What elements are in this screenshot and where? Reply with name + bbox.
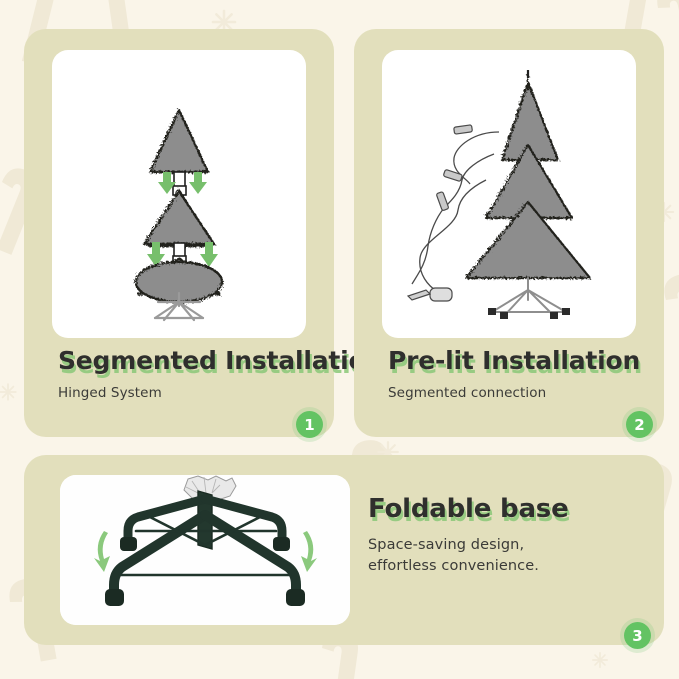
cord-connector [436, 125, 472, 211]
illustration-prelit-tree [382, 50, 636, 338]
feature-panel-prelit-installation: Pre-lit Installation Segmented connectio… [354, 29, 664, 437]
subtext-line: Hinged System [58, 384, 318, 404]
caption-panel-3: Foldable base Space-saving design, effor… [368, 495, 638, 577]
illustration-segmented-tree [52, 50, 306, 338]
step-badge-2: 2 [626, 411, 653, 438]
step-badge-1: 1 [296, 411, 323, 438]
subtext-line: Space-saving design, [368, 535, 638, 556]
panel-subtext: Space-saving design, effortless convenie… [368, 535, 638, 577]
assembled-tree [466, 70, 590, 278]
step-badge-3: 3 [624, 622, 651, 649]
panel-subtext: Hinged System [58, 384, 318, 404]
panel-heading: Segmented Installation [58, 347, 318, 375]
feature-panel-segmented-installation: Segmented Installation Hinged System [24, 29, 334, 437]
illustration-foldable-base [60, 475, 350, 625]
panel-heading: Foldable base [368, 495, 638, 524]
panel-subtext: Segmented connection [388, 384, 658, 404]
feature-panel-foldable-base: Foldable base Space-saving design, effor… [24, 455, 664, 645]
caption-panel-1: Segmented Installation Hinged System [58, 347, 318, 403]
panel-heading: Pre-lit Installation [388, 347, 658, 375]
tree-stand [492, 278, 566, 316]
subtext-line: effortless convenience. [368, 556, 638, 577]
subtext-line: Segmented connection [388, 384, 658, 404]
caption-panel-2: Pre-lit Installation Segmented connectio… [388, 347, 658, 403]
power-plug [408, 288, 452, 301]
stand-foot [488, 308, 570, 319]
